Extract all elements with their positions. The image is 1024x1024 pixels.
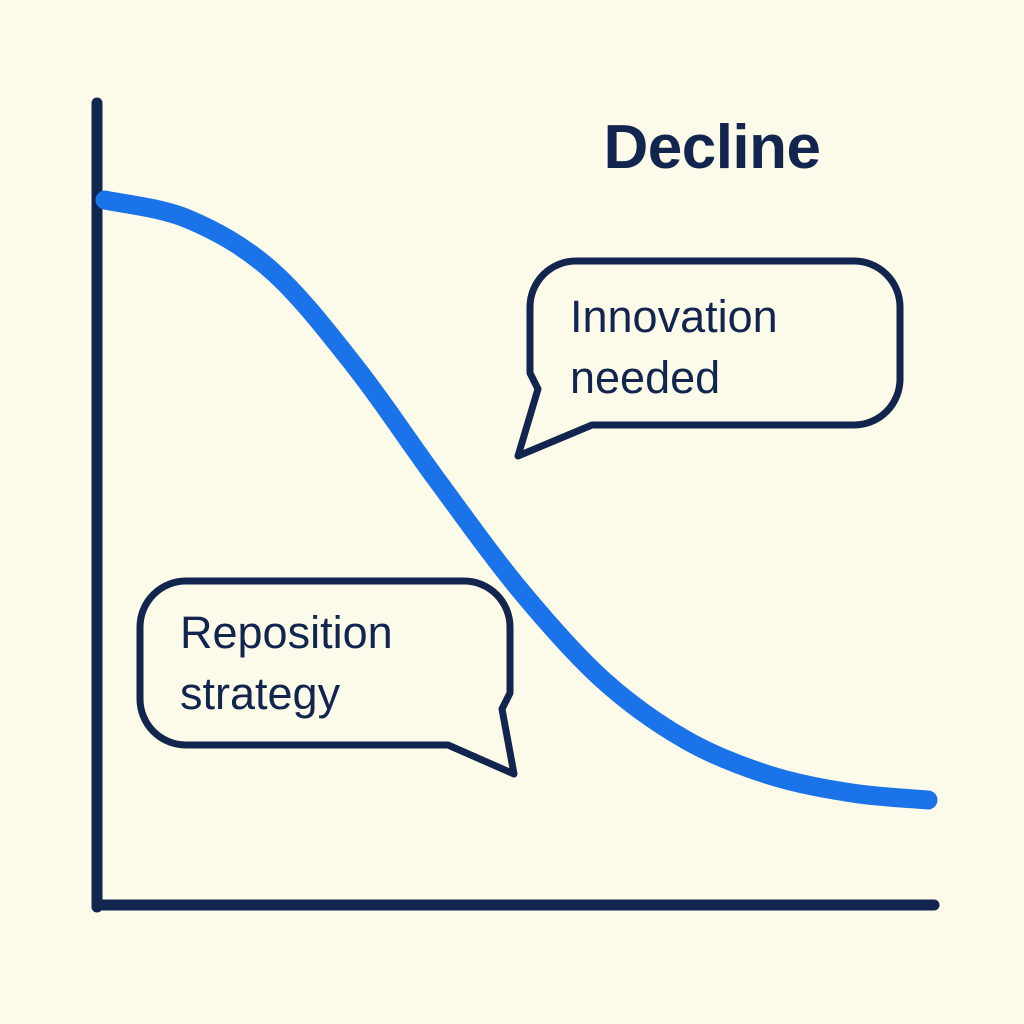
speech-bubble-reposition-strategy[interactable]: Reposition strategy: [140, 581, 514, 774]
page-title: Decline: [603, 113, 820, 182]
bubble-line-2: needed: [570, 352, 720, 403]
speech-bubble-innovation-needed[interactable]: Innovation needed: [518, 261, 900, 456]
bubble-line-1: Innovation: [570, 291, 778, 342]
bubble-line-2: strategy: [180, 668, 341, 719]
infographic-canvas: Decline Innovation needed Reposition str…: [0, 0, 1024, 1024]
bubble-line-1: Reposition: [180, 607, 393, 658]
background: [0, 0, 1024, 1024]
decline-chart-figure: Decline Innovation needed Reposition str…: [0, 0, 1024, 1024]
